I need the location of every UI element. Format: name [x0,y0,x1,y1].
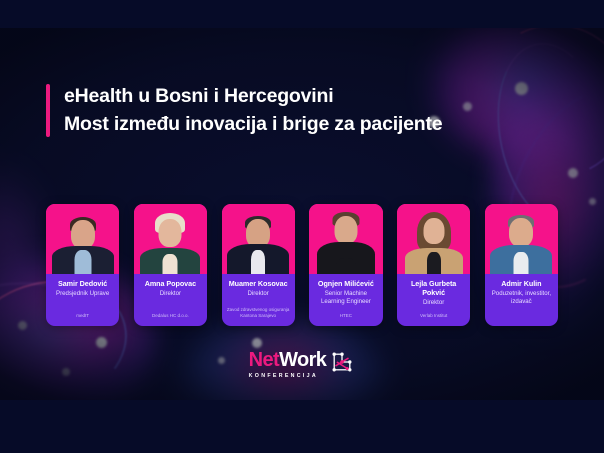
letterbox-bar-bottom [0,400,604,453]
speaker-card[interactable]: Lejla Gurbeta Pokvić Direktor Verlab Ins… [397,204,470,326]
bokeh-dot [463,102,472,111]
speaker-card[interactable]: Admir Kulin Poduzetnik, investitor, izda… [485,204,558,326]
speaker-photo [222,204,295,274]
speaker-org: medIT [76,307,89,319]
speaker-card-row: Samir Dedović Predsjednik Uprave medIT [46,204,558,326]
bokeh-dot [252,338,262,348]
bokeh-dot [18,321,27,330]
speaker-name: Muamer Kosovac [229,279,288,288]
speaker-photo [309,204,382,274]
speaker-org: Dedalus HC d.o.o. [152,307,189,319]
speaker-name: Samir Dedović [58,279,107,288]
person-silhouette-icon [485,204,558,274]
speaker-info: Amna Popovac Direktor Dedalus HC d.o.o. [134,274,207,326]
bokeh-dot [568,168,578,178]
speaker-info: Muamer Kosovac Direktor Zavod zdravstven… [222,274,295,326]
bokeh-dot [589,198,596,205]
person-silhouette-icon [309,204,382,274]
speaker-photo [134,204,207,274]
speaker-role: Poduzetnik, investitor, izdavač [488,290,555,306]
speaker-card[interactable]: Amna Popovac Direktor Dedalus HC d.o.o. [134,204,207,326]
bokeh-dot [96,337,107,348]
person-silhouette-icon [46,204,119,274]
bokeh-dot [515,82,528,95]
speaker-photo [485,204,558,274]
speaker-info: Admir Kulin Poduzetnik, investitor, izda… [485,274,558,326]
slide-artwork-area: eHealth u Bosni i Hercegovini Most izmeđ… [0,28,604,400]
slide-headline: eHealth u Bosni i Hercegovini Most izmeđ… [46,84,442,137]
headline-line-1: eHealth u Bosni i Hercegovini [64,84,442,110]
speaker-name: Lejla Gurbeta Pokvić [400,279,467,297]
speaker-org: Zavod zdravstvenog osiguranja Kantona Sa… [225,301,292,319]
speaker-card[interactable]: Samir Dedović Predsjednik Uprave medIT [46,204,119,326]
speaker-photo [397,204,470,274]
speaker-info: Samir Dedović Predsjednik Uprave medIT [46,274,119,326]
speaker-info: Lejla Gurbeta Pokvić Direktor Verlab Ins… [397,274,470,326]
speaker-name: Ognjen Milićević [318,279,374,288]
headline-line-2: Most između inovacija i brige za pacijen… [64,112,442,138]
speaker-role: Direktor [423,299,444,307]
speaker-info: Ognjen Milićević Senior Machine Learning… [309,274,382,326]
network-nodes-12-icon [329,349,355,375]
network-conference-logo: NetWork KONFERENCIJA [0,350,604,379]
logo-word-net: Net [249,350,279,370]
speaker-role: Direktor [247,290,268,298]
headline-accent-bar [46,84,50,137]
person-silhouette-icon [397,204,470,274]
logo-subtitle: KONFERENCIJA [249,373,318,379]
presentation-slide: eHealth u Bosni i Hercegovini Most izmeđ… [0,0,604,453]
letterbox-bar-top [0,0,604,28]
speaker-org: HTEC [340,307,352,319]
person-silhouette-icon [222,204,295,274]
speaker-role: Senior Machine Learning Engineer [312,290,379,306]
speaker-card[interactable]: Ognjen Milićević Senior Machine Learning… [309,204,382,326]
speaker-name: Amna Popovac [145,279,196,288]
logo-word-work: Work [279,350,326,370]
speaker-role: Predsjednik Uprave [56,290,109,298]
speaker-photo [46,204,119,274]
speaker-card[interactable]: Muamer Kosovac Direktor Zavod zdravstven… [222,204,295,326]
speaker-name: Admir Kulin [501,279,541,288]
person-silhouette-icon [134,204,207,274]
speaker-role: Direktor [160,290,181,298]
speaker-org: Verlab Institut [420,307,447,319]
